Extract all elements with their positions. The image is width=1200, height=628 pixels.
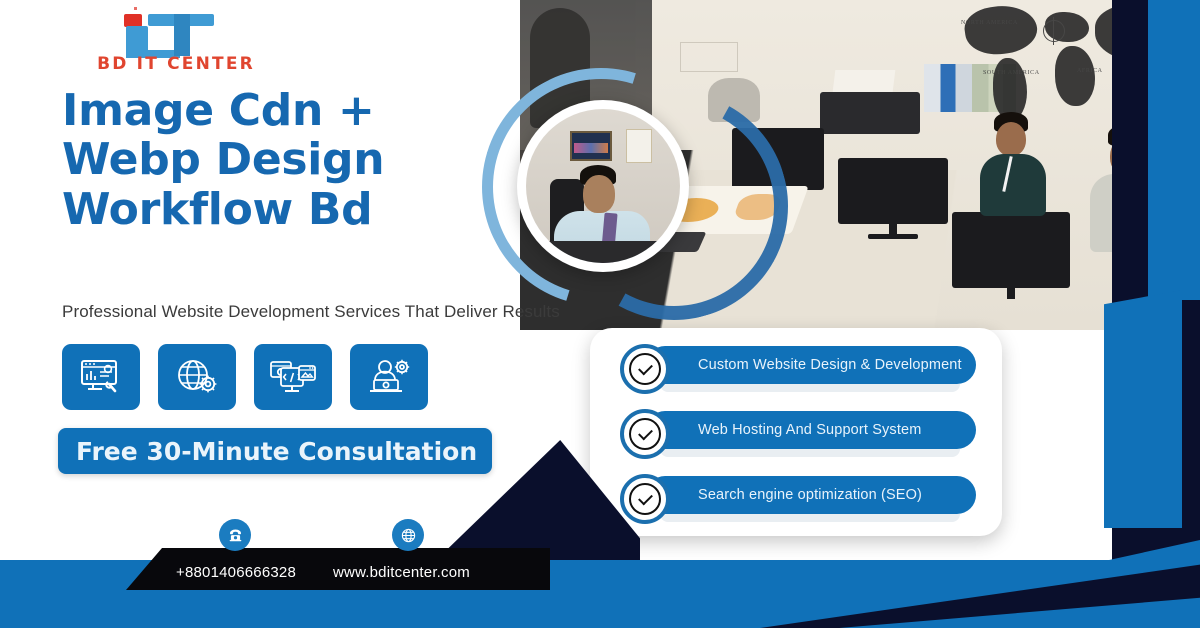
wall-photo-frame — [570, 131, 612, 161]
map-label: AFRICA — [1077, 68, 1103, 74]
checklist-pill[interactable]: Web Hosting And Support System — [646, 411, 976, 449]
web-design-screens-icon[interactable] — [254, 344, 332, 410]
compass-icon — [1043, 20, 1065, 42]
checklist-pill[interactable]: Search engine optimization (SEO) — [646, 476, 976, 514]
pill-shadow — [660, 449, 960, 457]
page-title: Image Cdn + Webp Design Workflow Bd — [62, 86, 502, 234]
desk-surface — [526, 241, 680, 263]
checklist-item[interactable]: Web Hosting And Support System — [620, 411, 976, 451]
consultation-cta-button[interactable]: Free 30-Minute Consultation — [58, 428, 492, 474]
analytics-monitor-wrench-icon[interactable] — [62, 344, 140, 410]
marketing-banner: ✈ NORTH AMERICA SOUTH AMERICA AFRICA OCE… — [0, 0, 1200, 628]
map-label: NORTH AMERICA — [961, 20, 1018, 26]
check-circle-icon — [620, 409, 670, 459]
logo-letter-t-stem — [174, 14, 190, 56]
subtitle: Professional Website Development Service… — [62, 302, 582, 322]
pill-shadow — [660, 514, 960, 522]
service-icon-row — [62, 344, 428, 410]
website-url[interactable]: www.bditcenter.com — [333, 564, 470, 581]
checklist-item[interactable]: Search engine optimization (SEO) — [620, 476, 976, 516]
checklist-label: Custom Website Design & Development — [646, 357, 962, 373]
check-circle-icon — [620, 474, 670, 524]
portrait-avatar — [517, 100, 689, 272]
checklist-label: Web Hosting And Support System — [646, 422, 921, 438]
cta-label: Free 30-Minute Consultation — [58, 437, 477, 466]
logo-letter-i — [126, 26, 148, 56]
right-blue-block-top — [1148, 0, 1200, 300]
brand-name: BD IT CENTER — [86, 54, 266, 74]
checklist-pill[interactable]: Custom Website Design & Development — [646, 346, 976, 384]
wall-frame — [680, 42, 738, 72]
checklist-label: Search engine optimization (SEO) — [646, 487, 922, 503]
wall-certificate — [626, 129, 652, 163]
support-agent-laptop-icon[interactable] — [350, 344, 428, 410]
pill-shadow — [660, 384, 960, 392]
globe-gear-icon[interactable] — [158, 344, 236, 410]
brand-logo[interactable]: BD IT CENTER — [86, 8, 266, 76]
monitor — [952, 212, 1070, 288]
telephone-icon[interactable] — [219, 519, 251, 551]
headline-line-1: Image Cdn + — [62, 86, 502, 135]
monitor-base — [868, 234, 918, 239]
person-head — [583, 175, 615, 213]
right-blue-block-mid — [1104, 290, 1182, 528]
map-label: SOUTH AMERICA — [983, 70, 1040, 76]
lt-monogram-icon — [108, 12, 240, 56]
printer — [820, 92, 920, 134]
phone-number[interactable]: +8801406666328 — [176, 564, 296, 581]
services-checklist-card: Custom Website Design & Development Web … — [590, 328, 1002, 536]
check-circle-icon — [620, 344, 670, 394]
monitor — [838, 158, 948, 224]
checklist-item[interactable]: Custom Website Design & Development — [620, 346, 976, 386]
headline-line-2: Webp Design — [62, 135, 502, 184]
headline-line-3: Workflow Bd — [62, 185, 502, 234]
globe-icon[interactable] — [392, 519, 424, 551]
portrait-photo — [526, 109, 680, 263]
